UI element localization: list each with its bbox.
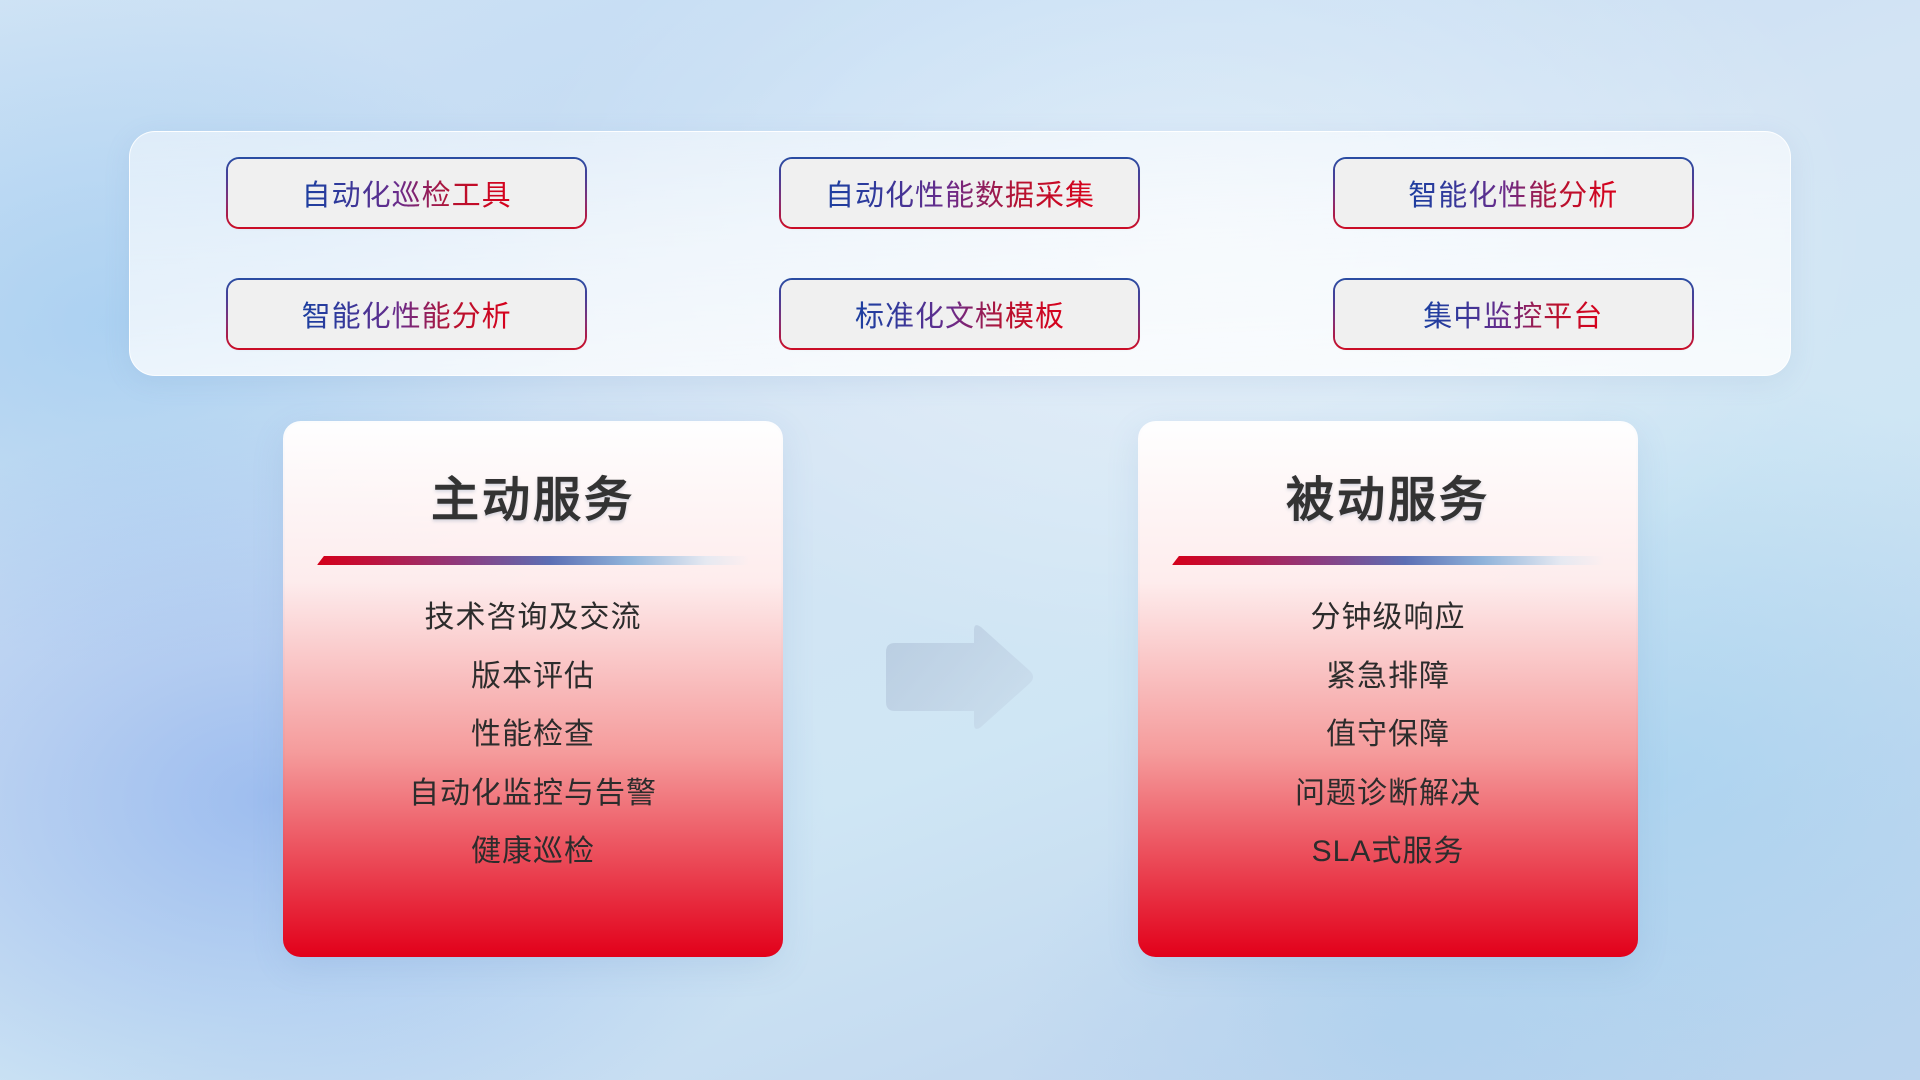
capability-tag-label: 标准化文档模板 bbox=[855, 293, 1065, 335]
capability-tag-inner: 自动化性能数据采集 bbox=[781, 159, 1138, 227]
capability-tag-label: 智能化性能分析 bbox=[302, 293, 512, 335]
service-card-title: 主动服务 bbox=[285, 460, 781, 530]
capability-tag-label: 智能化性能分析 bbox=[1408, 172, 1618, 214]
service-item-list: 技术咨询及交流 版本评估 性能检查 自动化监控与告警 健康巡检 bbox=[285, 599, 781, 871]
service-list-item: 自动化监控与告警 bbox=[285, 775, 781, 813]
service-item-list: 分钟级响应 紧急排障 值守保障 问题诊断解决 SLA式服务 bbox=[1140, 599, 1636, 871]
service-card-title: 被动服务 bbox=[1140, 460, 1636, 530]
capability-tag-inner: 集中监控平台 bbox=[1335, 280, 1692, 348]
capability-tag-label: 集中监控平台 bbox=[1423, 293, 1603, 335]
capability-tag-label: 自动化巡检工具 bbox=[302, 172, 512, 214]
slide-canvas: 自动化巡检工具 自动化性能数据采集 智能化性能分析 智能化性能分析 标准化文档模… bbox=[0, 0, 1920, 1080]
capability-tag[interactable]: 智能化性能分析 bbox=[228, 280, 585, 348]
capability-tag-inner: 智能化性能分析 bbox=[228, 280, 585, 348]
service-list-item: 问题诊断解决 bbox=[1140, 775, 1636, 813]
service-list-item: 版本评估 bbox=[285, 658, 781, 696]
service-list-item: SLA式服务 bbox=[1140, 833, 1636, 871]
capability-tag-panel: 自动化巡检工具 自动化性能数据采集 智能化性能分析 智能化性能分析 标准化文档模… bbox=[129, 131, 1791, 376]
capability-tag[interactable]: 集中监控平台 bbox=[1335, 280, 1692, 348]
service-card-passive[interactable]: 被动服务 分钟级响应 紧急排障 值守保障 问题诊断解决 SLA式服务 bbox=[1140, 423, 1636, 955]
service-list-item: 性能检查 bbox=[285, 716, 781, 754]
right-arrow-icon bbox=[878, 622, 1036, 732]
title-underline-accent bbox=[317, 556, 749, 565]
service-list-item: 健康巡检 bbox=[285, 833, 781, 871]
capability-tag[interactable]: 智能化性能分析 bbox=[1335, 159, 1692, 227]
capability-tag[interactable]: 自动化巡检工具 bbox=[228, 159, 585, 227]
service-list-item: 值守保障 bbox=[1140, 716, 1636, 754]
capability-tag[interactable]: 标准化文档模板 bbox=[781, 280, 1138, 348]
capability-tag-label: 自动化性能数据采集 bbox=[825, 172, 1095, 214]
capability-tag-inner: 自动化巡检工具 bbox=[228, 159, 585, 227]
capability-tag[interactable]: 自动化性能数据采集 bbox=[781, 159, 1138, 227]
service-list-item: 紧急排障 bbox=[1140, 658, 1636, 696]
capability-tag-inner: 标准化文档模板 bbox=[781, 280, 1138, 348]
capability-tag-inner: 智能化性能分析 bbox=[1335, 159, 1692, 227]
title-underline-accent bbox=[1172, 556, 1604, 565]
service-list-item: 技术咨询及交流 bbox=[285, 599, 781, 637]
service-card-active[interactable]: 主动服务 技术咨询及交流 版本评估 性能检查 自动化监控与告警 健康巡检 bbox=[285, 423, 781, 955]
service-list-item: 分钟级响应 bbox=[1140, 599, 1636, 637]
